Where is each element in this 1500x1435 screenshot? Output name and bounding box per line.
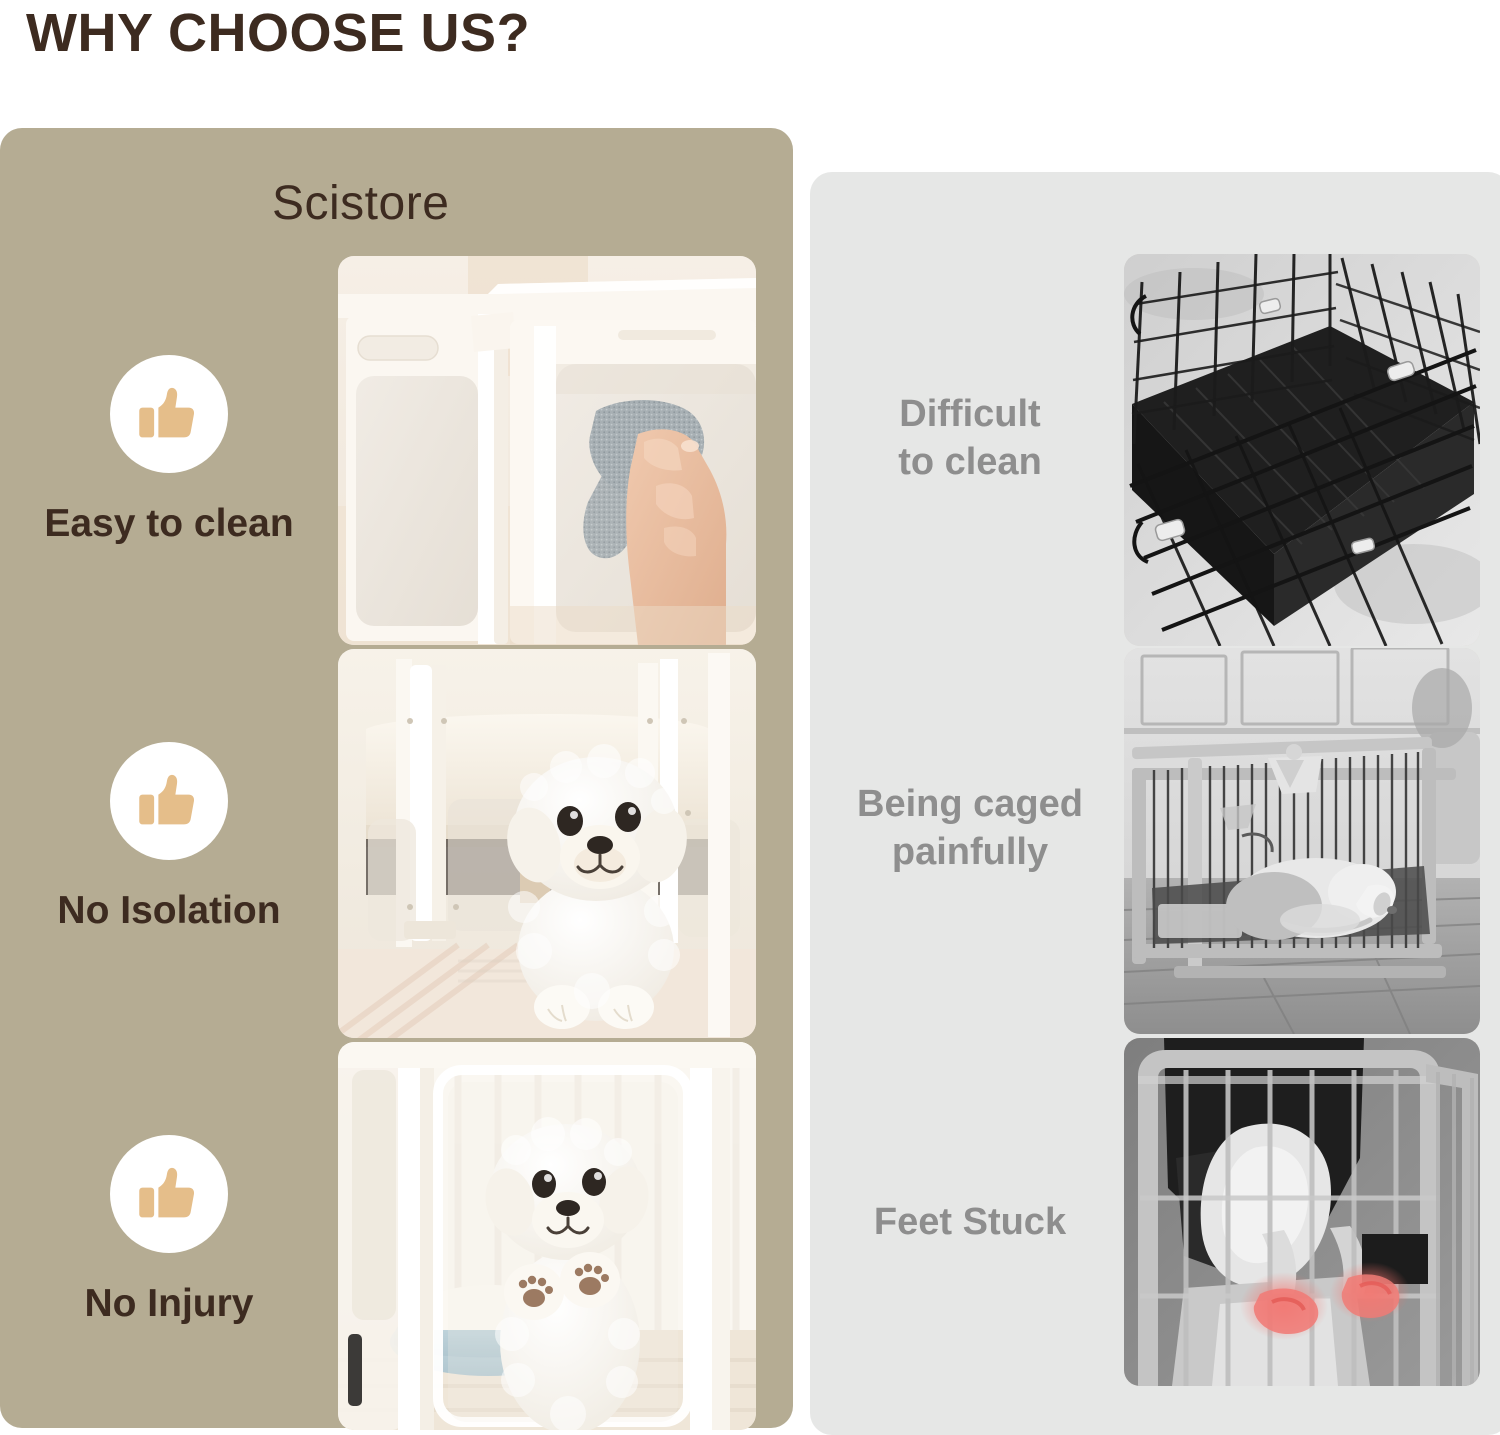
con-label-line1: Difficult — [820, 390, 1120, 438]
con-feature-feet-stuck: Feet Stuck — [820, 1198, 1120, 1246]
con-photo-feet-stuck — [1124, 1038, 1480, 1386]
pro-feature-label: No Injury — [14, 1281, 324, 1327]
con-photo-being-caged-painfully — [1124, 648, 1480, 1034]
con-label-line1: Being caged — [820, 780, 1120, 828]
pro-feature-no-isolation: No Isolation — [14, 742, 324, 934]
pro-photo-easy-to-clean — [338, 256, 756, 645]
pro-feature-label: Easy to clean — [14, 501, 324, 547]
pro-feature-easy-to-clean: Easy to clean — [14, 355, 324, 547]
thumbs-up-badge — [110, 742, 228, 860]
con-photo-difficult-to-clean — [1124, 254, 1480, 646]
thumbs-up-icon — [135, 767, 203, 835]
pro-photo-no-injury — [338, 1042, 756, 1430]
con-feature-being-caged-painfully: Being caged painfully — [820, 780, 1120, 876]
con-feature-difficult-to-clean: Difficult to clean — [820, 390, 1120, 486]
con-label-line1: Feet Stuck — [820, 1198, 1120, 1246]
pro-feature-no-injury: No Injury — [14, 1135, 324, 1327]
brand-label: Scistore — [272, 176, 632, 231]
thumbs-up-icon — [135, 380, 203, 448]
comparison-section: Scistore Easy to clean No Isolation — [0, 0, 1500, 1435]
con-label-line2: painfully — [820, 828, 1120, 876]
thumbs-up-badge — [110, 355, 228, 473]
thumbs-up-badge — [110, 1135, 228, 1253]
con-label-line2: to clean — [820, 438, 1120, 486]
pro-feature-label: No Isolation — [14, 888, 324, 934]
pro-photo-no-isolation — [338, 649, 756, 1038]
thumbs-up-icon — [135, 1160, 203, 1228]
